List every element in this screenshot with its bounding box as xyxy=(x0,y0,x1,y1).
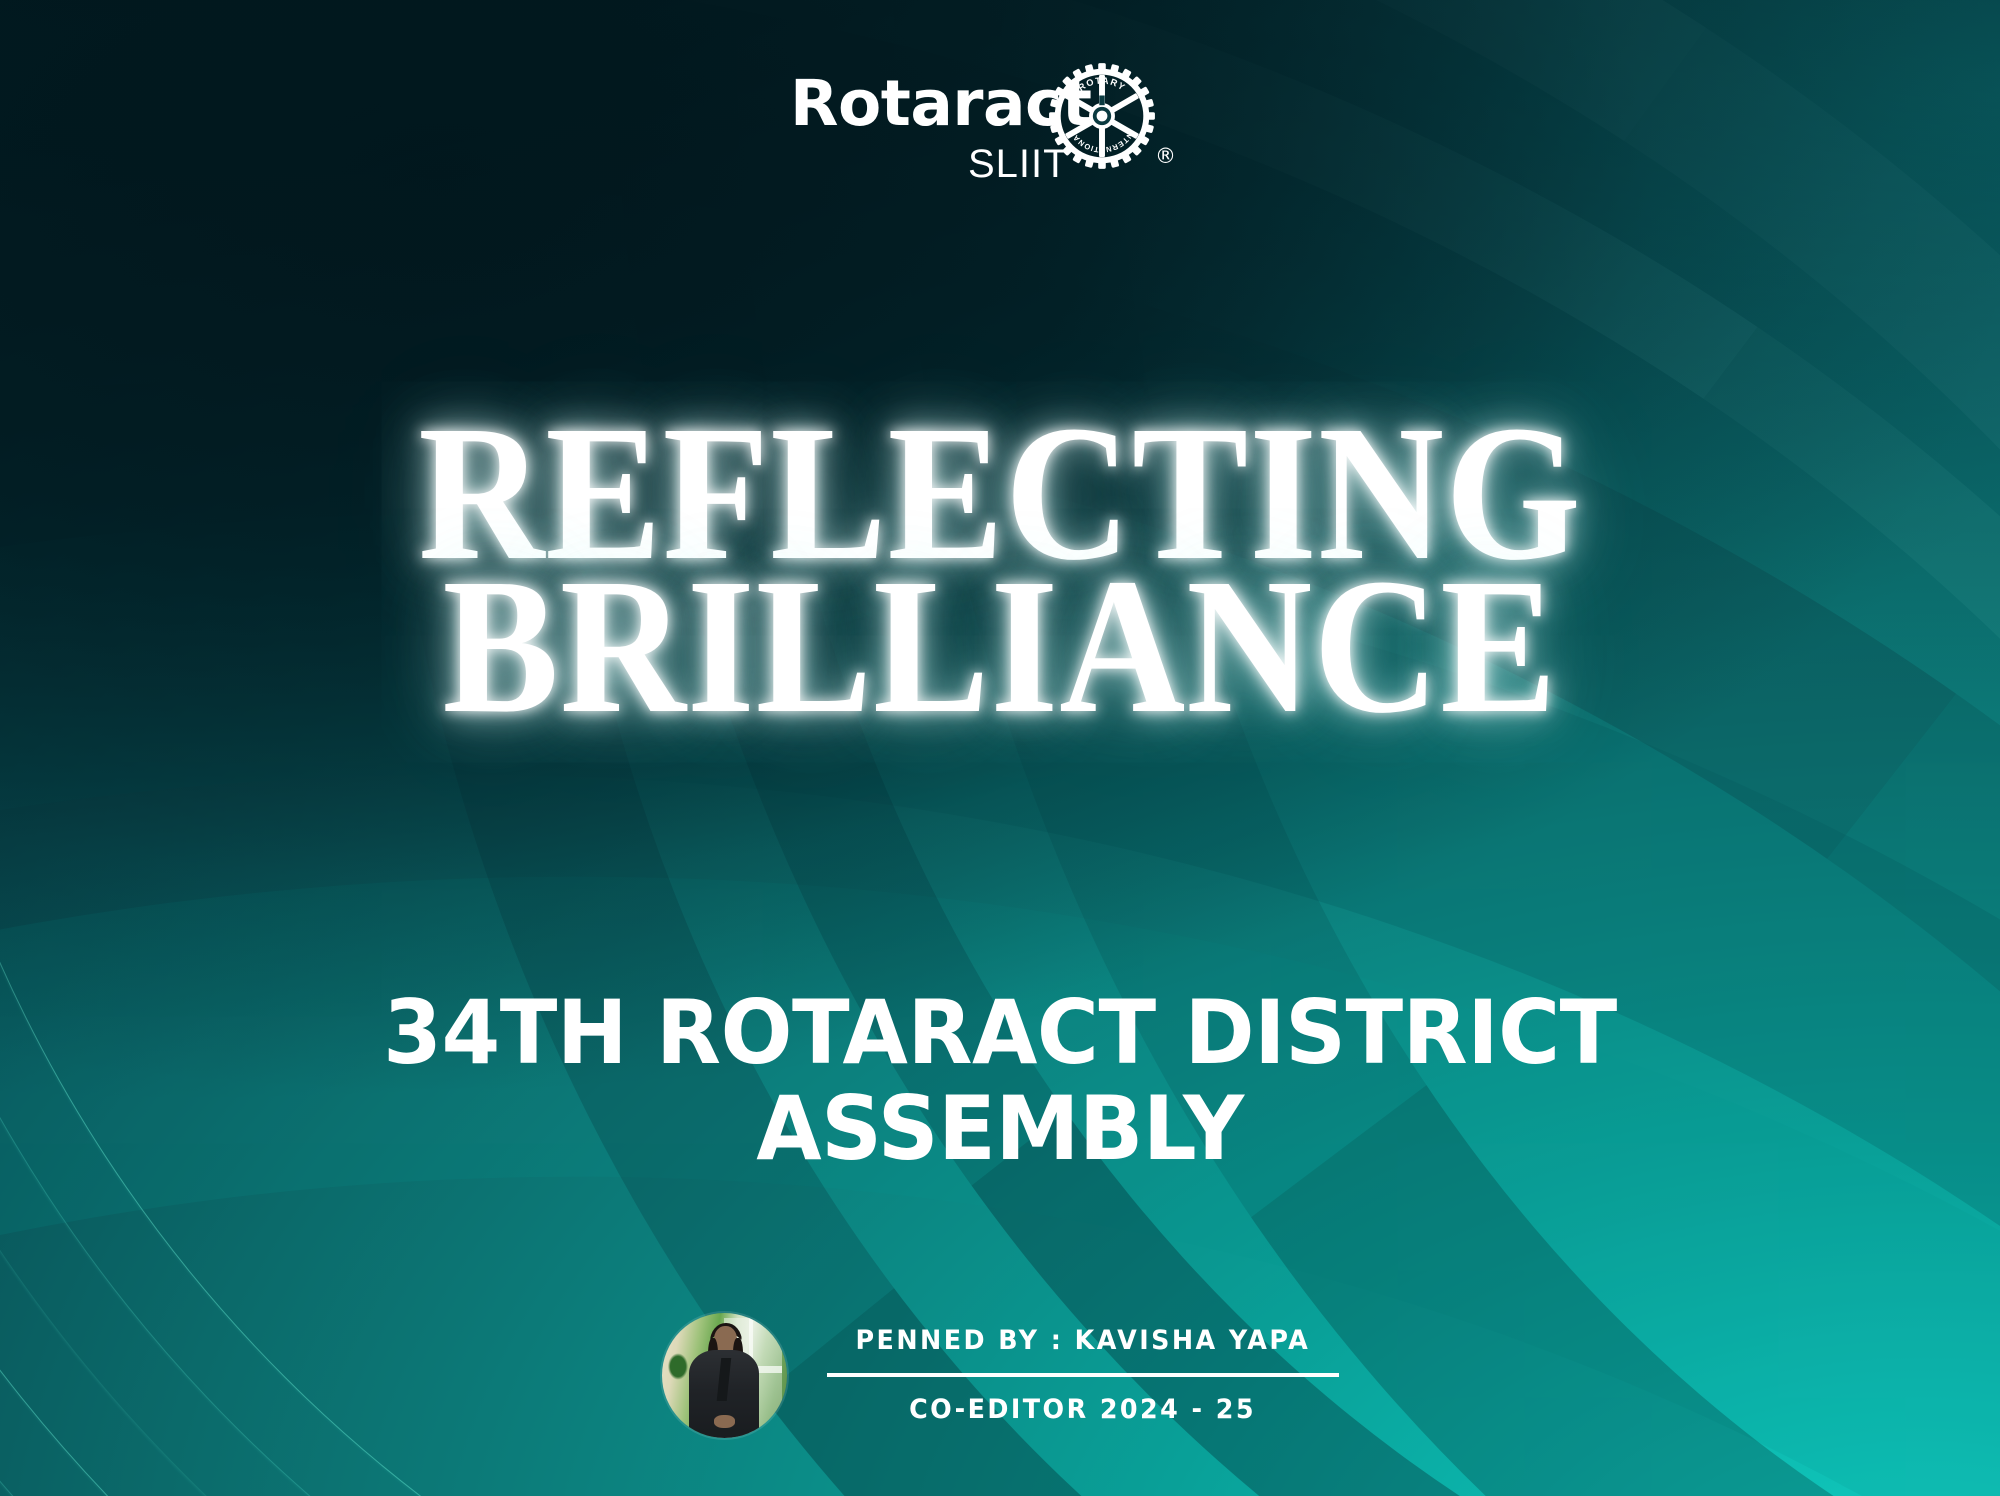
headline-line-2: BRILLIANCE xyxy=(100,559,1900,734)
subtitle-line-2: ASSEMBLY xyxy=(328,1081,1672,1177)
penned-by-label: PENNED BY : KAVISHA YAPA xyxy=(855,1325,1310,1356)
rotary-wheel-icon: ROTARY INTERNATIONAL xyxy=(1048,62,1156,170)
avatar-hands xyxy=(714,1415,735,1428)
headline-block: REFLECTING BRILLIANCE xyxy=(0,406,2000,733)
registered-trademark-icon: ® xyxy=(1155,146,1176,167)
subtitle-line-1: 34TH ROTARACT DISTRICT xyxy=(328,985,1672,1081)
avatar-plant xyxy=(664,1348,692,1386)
credit-block: PENNED BY : KAVISHA YAPA CO-EDITOR 2024 … xyxy=(0,1300,2000,1450)
author-role-label: CO-EDITOR 2024 - 25 xyxy=(909,1394,1256,1425)
credit-divider xyxy=(827,1373,1339,1377)
logo-wordmark: Rotaract xyxy=(790,72,1091,135)
avatar xyxy=(662,1313,787,1438)
poster-canvas: Rotaract SLIIT xyxy=(0,0,2000,1496)
subtitle-block: 34TH ROTARACT DISTRICT ASSEMBLY xyxy=(0,985,2000,1177)
credit-text-block: PENNED BY : KAVISHA YAPA CO-EDITOR 2024 … xyxy=(827,1325,1339,1425)
rotaract-sliit-logo: Rotaract SLIIT xyxy=(790,62,1210,187)
